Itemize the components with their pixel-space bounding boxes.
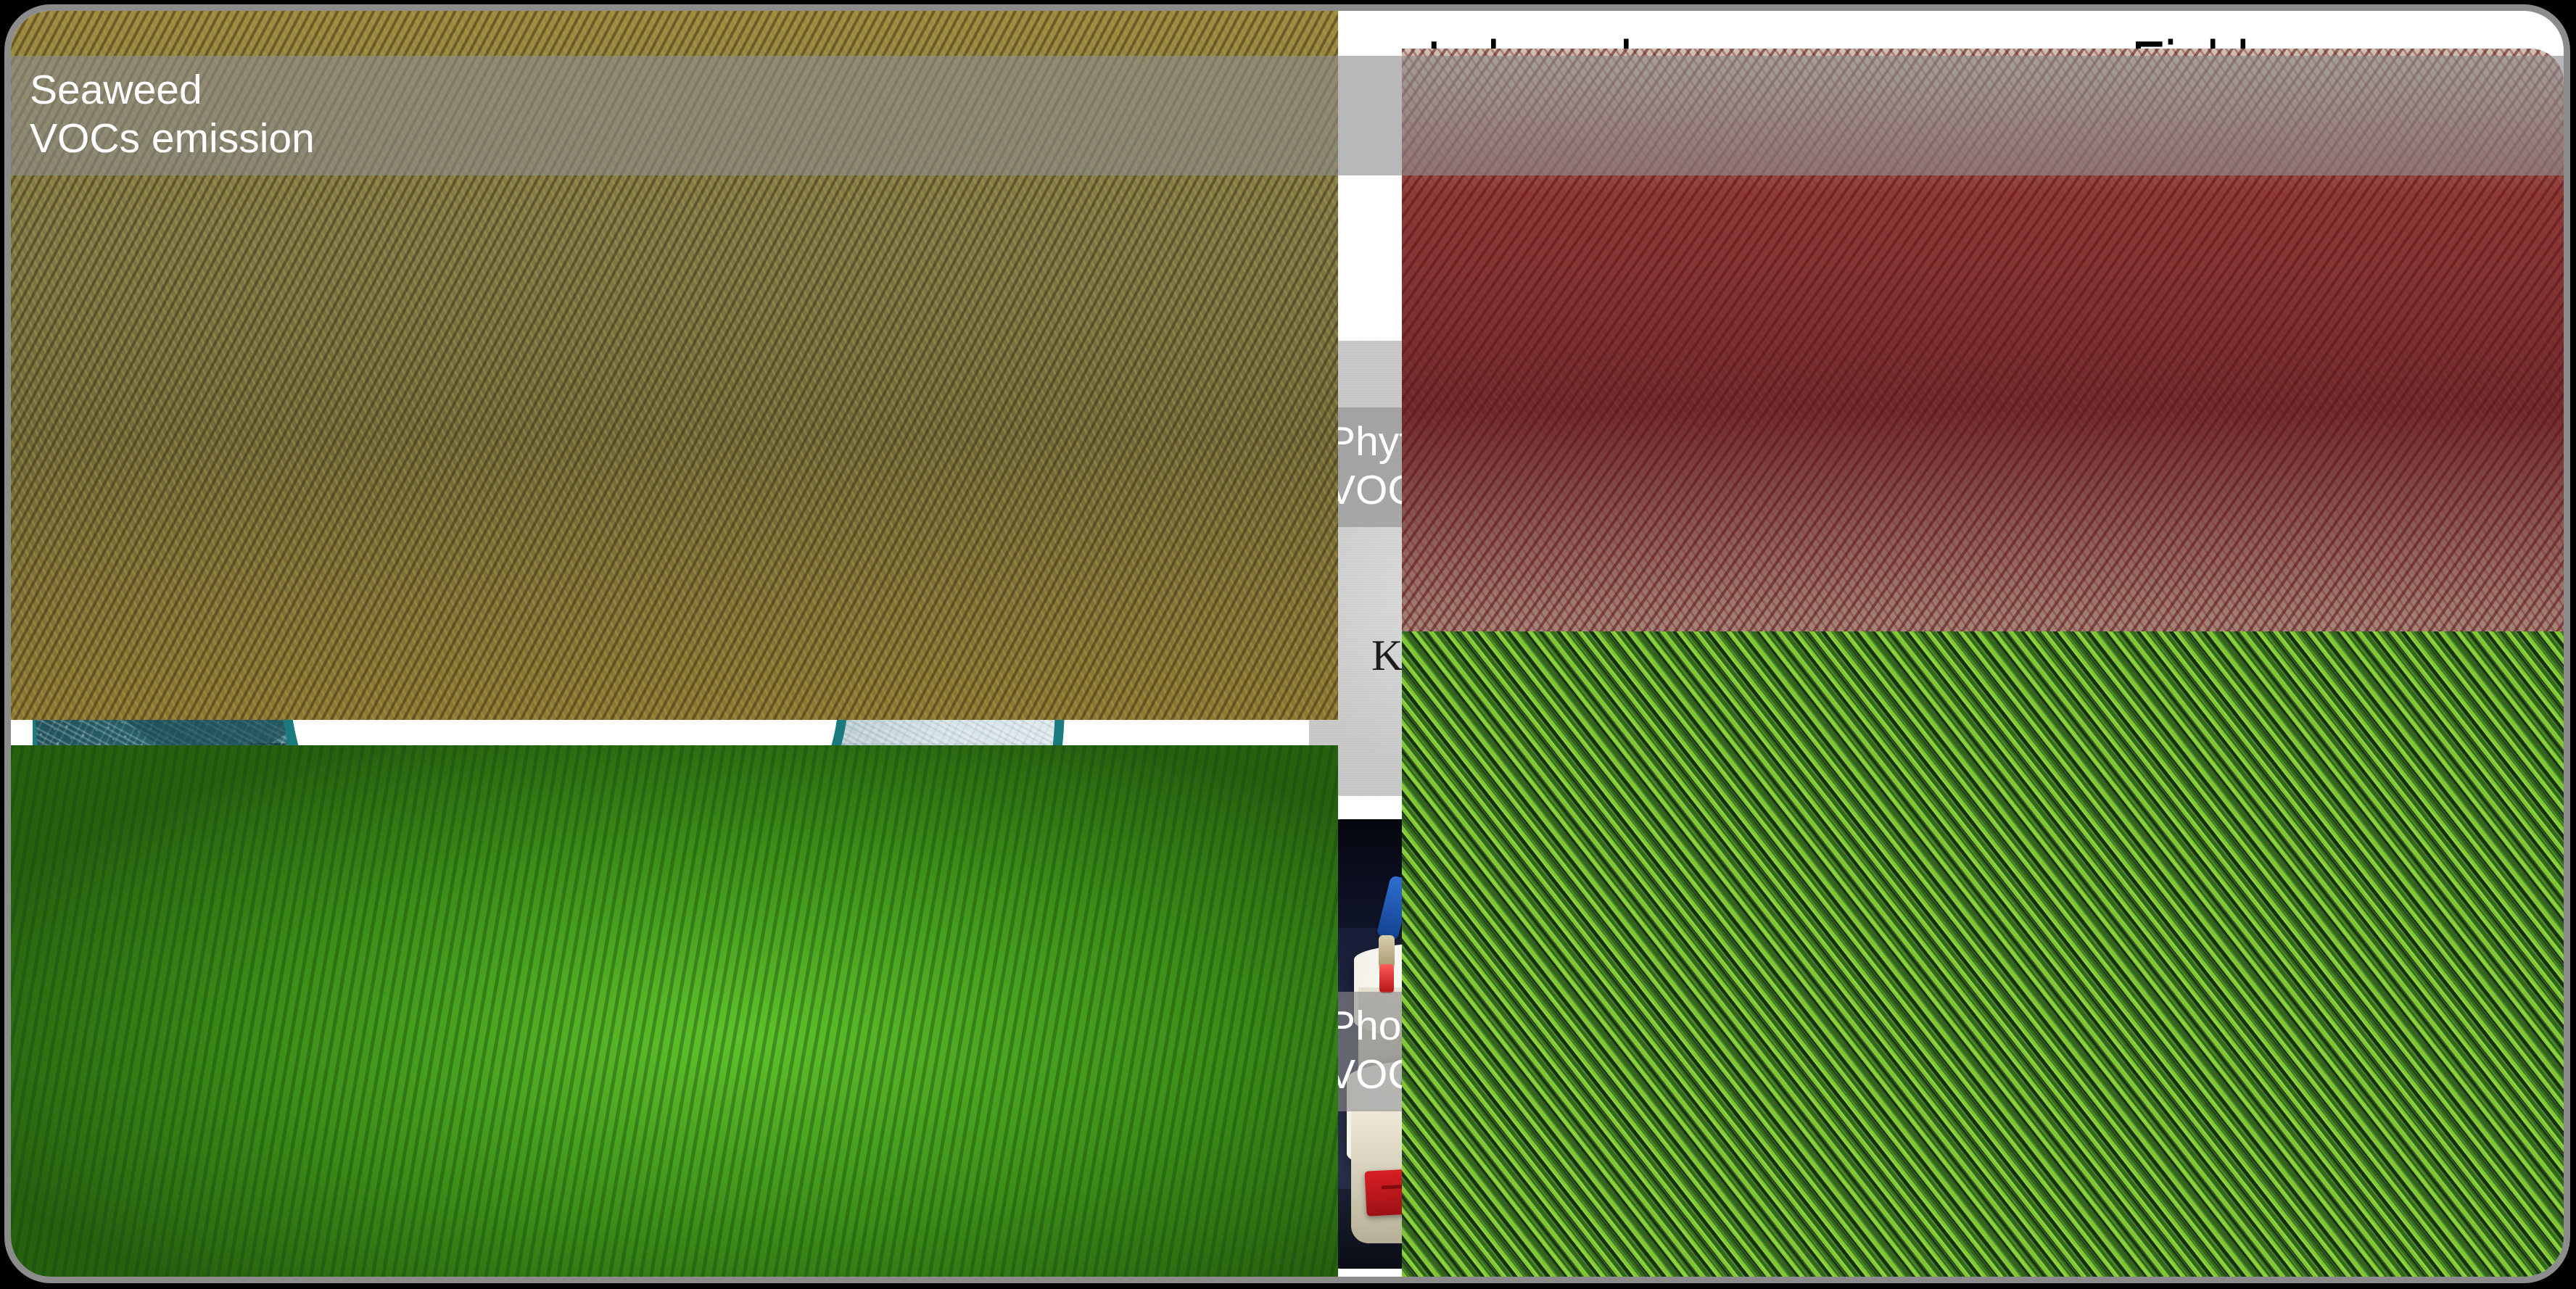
figure-frame: Environmental Change Biogenic VOCs Produ… xyxy=(4,4,2570,1283)
caption-line2: VOCs emission xyxy=(30,115,569,163)
caption-line1: Seaweed xyxy=(30,66,569,115)
caption-seaweed: Seaweed VOCs emission xyxy=(11,56,569,175)
valve-tip xyxy=(1379,964,1394,993)
panel-seaweed[interactable]: Seaweed VOCs emission xyxy=(11,11,569,457)
